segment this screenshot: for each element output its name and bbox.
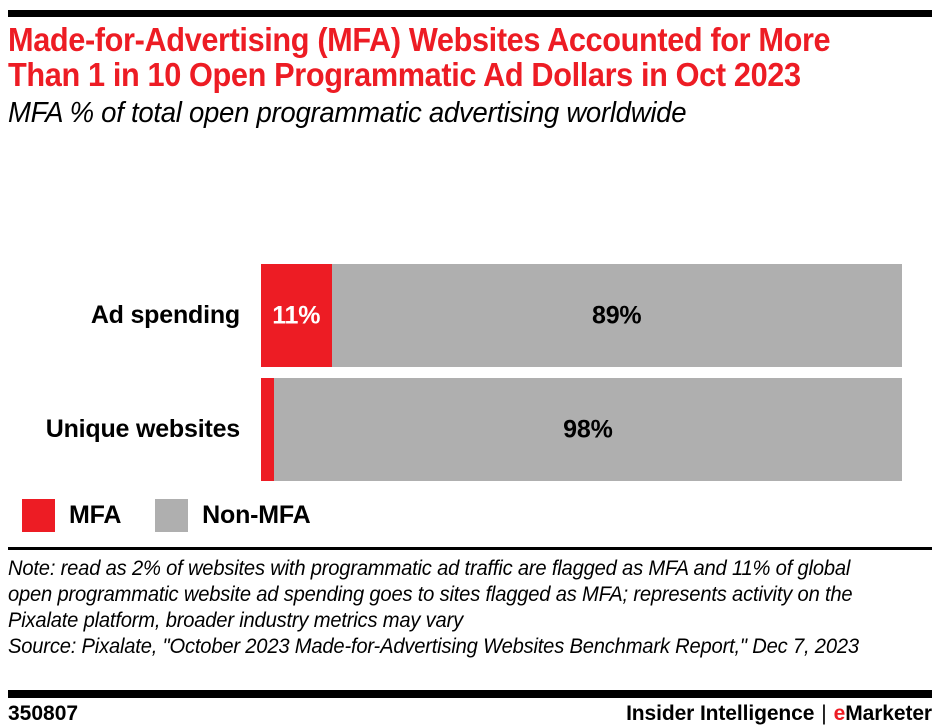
brand-emarketer-marketer: Marketer [845,702,932,726]
stacked-bar-ad-spending: 11% 89% [261,264,902,367]
bar-value-non-mfa: 89% [592,301,641,330]
bar-segment-non-mfa[interactable]: 89% [332,264,902,367]
brand-attribution: Insider Intelligence | eMarketer [626,702,932,726]
bar-value-mfa: 11% [272,301,320,330]
page-subtitle: MFA % of total open programmatic adverti… [8,98,878,129]
chart-header: Made-for-Advertising (MFA) Websites Acco… [8,22,924,129]
chart-footer: 350807 Insider Intelligence | eMarketer [8,702,932,726]
legend-swatch-mfa [22,499,55,532]
chart-plot-area: Ad spending 11% 89% Unique websites 2% 9… [0,240,940,490]
bar-segment-mfa[interactable]: 11% [261,264,332,367]
bottom-divider-rule [8,690,932,698]
note-divider-rule [8,547,932,550]
bar-segment-non-mfa[interactable]: 98% [274,378,902,481]
stacked-bar-unique-websites: 2% 98% [261,378,902,481]
page-title: Made-for-Advertising (MFA) Websites Acco… [8,22,860,92]
bar-value-non-mfa: 98% [563,415,612,444]
bar-segment-mfa[interactable]: 2% [261,378,274,481]
category-label-ad-spending: Ad spending [0,264,240,367]
chart-row-unique-websites: Unique websites 2% 98% [0,378,940,481]
brand-separator: | [821,702,826,726]
chart-row-ad-spending: Ad spending 11% 89% [0,264,940,367]
legend-item-non-mfa[interactable]: Non-MFA [155,499,310,532]
legend-swatch-non-mfa [155,499,188,532]
brand-insider-intelligence: Insider Intelligence [626,702,814,726]
legend-item-mfa[interactable]: MFA [22,499,121,532]
category-label-unique-websites: Unique websites [0,378,240,481]
legend-label-mfa: MFA [69,501,121,530]
legend-label-non-mfa: Non-MFA [202,501,310,530]
top-divider-rule [8,10,932,17]
brand-emarketer-e: e [834,702,846,726]
note-and-source-text: Note: read as 2% of websites with progra… [8,556,887,660]
chart-id: 350807 [8,702,78,726]
chart-legend: MFA Non-MFA [22,498,344,532]
